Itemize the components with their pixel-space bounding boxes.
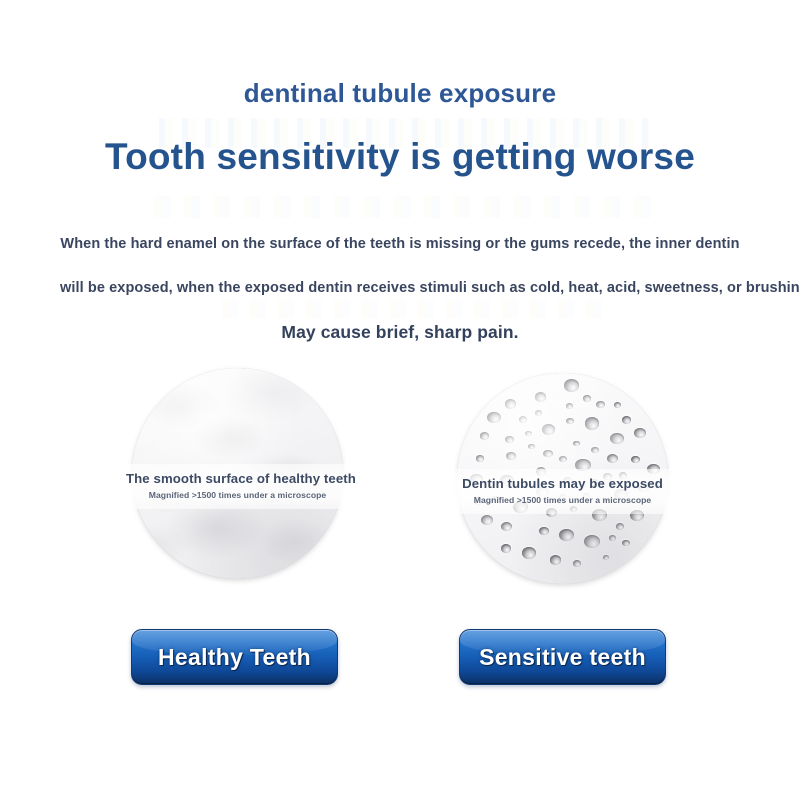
dentin-tubule-pit — [542, 424, 555, 435]
dentin-tubule-pit — [585, 417, 600, 429]
dentin-tubule-pit — [616, 523, 624, 530]
dentin-tubule-pit — [634, 428, 646, 438]
dentin-tubule-pit — [596, 401, 605, 408]
dentin-tubule-pit — [528, 444, 535, 450]
dentin-tubule-pit — [543, 450, 552, 458]
dentin-tubule-pit — [506, 452, 516, 460]
dentin-tubule-pit — [501, 522, 512, 531]
dentin-tubule-pit — [476, 455, 484, 461]
page-title: Tooth sensitivity is getting worse — [0, 136, 800, 178]
body-line-2: will be exposed, when the exposed dentin… — [60, 266, 740, 310]
dentin-tubule-pit — [607, 454, 619, 464]
body-line-1: When the hard enamel on the surface of t… — [60, 222, 740, 266]
dentin-tubule-pit — [522, 547, 536, 559]
eyebrow-heading: dentinal tubule exposure — [0, 78, 800, 109]
specimen-comparison: The smooth surface of healthy teeth Magn… — [0, 368, 800, 583]
specimen-healthy: The smooth surface of healthy teeth Magn… — [132, 368, 343, 579]
dentin-tubule-pit — [573, 441, 580, 447]
dentin-tubule-pit — [631, 456, 640, 463]
dentin-tubule-pit — [559, 456, 566, 462]
body-line-3: May cause brief, sharp pain. — [60, 310, 740, 354]
background-artifact-band-2 — [140, 196, 660, 218]
dentin-tubule-pit — [487, 412, 501, 423]
dentin-tubule-pit — [610, 433, 623, 444]
dentin-tubule-pit — [480, 432, 489, 440]
dentin-tubule-pit — [566, 403, 573, 409]
dentin-tubule-pit — [550, 555, 561, 564]
dentin-tubule-pit — [505, 399, 517, 409]
healthy-teeth-button-label: Healthy Teeth — [158, 644, 311, 671]
healthy-teeth-button[interactable]: Healthy Teeth — [131, 629, 338, 685]
caption-sub-healthy: Magnified >1500 times under a microscope — [126, 490, 349, 500]
dentin-tubule-pit — [591, 447, 599, 453]
dentin-tubule-pit — [559, 529, 575, 542]
dentin-tubule-pit — [535, 410, 542, 416]
caption-band-healthy: The smooth surface of healthy teeth Magn… — [126, 464, 349, 509]
dentin-tubule-pit — [573, 560, 581, 567]
caption-band-sensitive: Dentin tubules may be exposed Magnified … — [451, 469, 674, 514]
dentin-tubule-pit — [519, 416, 528, 423]
dentin-tubule-pit — [603, 555, 610, 561]
dentin-tubule-pit — [614, 402, 621, 408]
caption-title-healthy: The smooth surface of healthy teeth — [126, 471, 349, 486]
dentin-tubule-pit — [622, 416, 631, 424]
specimen-sensitive: Dentin tubules may be exposed Magnified … — [457, 373, 668, 584]
dentin-tubule-pit — [609, 535, 616, 541]
sensitive-teeth-button-label: Sensitive teeth — [479, 644, 646, 671]
caption-sub-sensitive: Magnified >1500 times under a microscope — [451, 495, 674, 505]
caption-title-sensitive: Dentin tubules may be exposed — [451, 476, 674, 491]
dentin-tubule-pit — [584, 535, 600, 548]
sensitive-teeth-button[interactable]: Sensitive teeth — [459, 629, 666, 685]
dentin-tubule-pit — [481, 515, 493, 525]
dentin-tubule-pit — [501, 544, 512, 553]
dentin-tubule-pit — [505, 436, 513, 443]
dentin-tubule-pit — [564, 379, 580, 392]
dentin-tubule-pit — [535, 392, 547, 402]
body-copy: When the hard enamel on the surface of t… — [60, 222, 740, 354]
dentin-tubule-pit — [525, 431, 532, 437]
dentin-tubule-pit — [539, 527, 549, 536]
dentin-tubule-pit — [622, 540, 630, 546]
infographic-page: dentinal tubule exposure Tooth sensitivi… — [0, 0, 800, 800]
action-buttons: Healthy Teeth Sensitive teeth — [0, 629, 800, 687]
dentin-tubule-pit — [583, 395, 591, 401]
dentin-tubule-pit — [566, 418, 574, 424]
